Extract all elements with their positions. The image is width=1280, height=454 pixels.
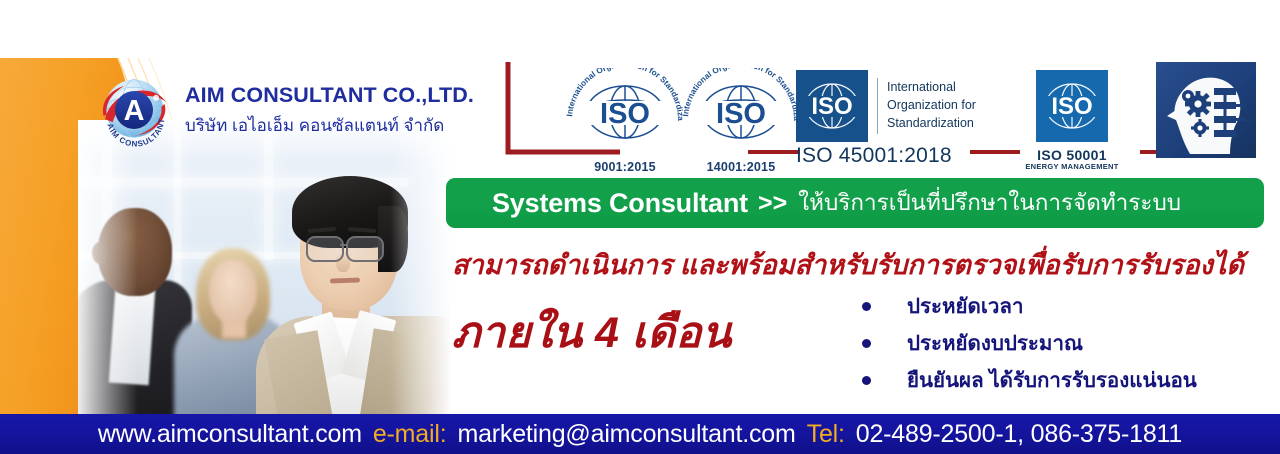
- iso-9001-caption: 9001:2015: [560, 160, 690, 174]
- iso-certification-row: ISO International Organization for Stand…: [500, 56, 1280, 174]
- svg-text:ISO: ISO: [811, 93, 852, 120]
- company-name-th: บริษัท เอไอเอ็ม คอนซัลแตนท์ จำกัด: [185, 117, 474, 136]
- systems-consultant-subtitle: ให้บริการเป็นที่ปรึกษาในการจัดทำระบบ: [798, 192, 1181, 215]
- systems-consultant-title: Systems Consultant: [492, 190, 748, 217]
- bullet-dot-icon: [862, 339, 871, 348]
- email-link[interactable]: marketing@aimconsultant.com: [457, 420, 795, 449]
- promotional-banner: A AIM CONSULTANT AIM CONSULTANT CO.,LTD.…: [0, 0, 1280, 454]
- company-name-block: AIM CONSULTANT CO.,LTD. บริษัท เอไอเอ็ม …: [185, 84, 474, 135]
- head-with-gears-icon: [1150, 58, 1262, 167]
- iso-50001-sub-caption: ENERGY MANAGEMENT: [1020, 162, 1124, 171]
- team-photo: [78, 120, 450, 416]
- tel-label: Tel:: [807, 420, 845, 449]
- list-item: ประหยัดงบประมาณ: [862, 325, 1197, 362]
- iso-45001-caption: ISO 45001:2018: [796, 144, 986, 168]
- tel-number[interactable]: 02-489-2500-1, 086-375-1811: [856, 420, 1182, 449]
- systems-consultant-banner: Systems Consultant >> ให้บริการเป็นที่ปร…: [446, 178, 1264, 228]
- iso-50001-certification: ISO ISO 50001 ENERGY MANAGEMENT: [1020, 70, 1124, 171]
- bullet-dot-icon: [862, 376, 871, 385]
- headline-duration: ภายใน 4 เดือน: [452, 312, 732, 355]
- svg-text:A: A: [124, 95, 145, 127]
- chevron-double-right-icon: >>: [758, 191, 787, 216]
- website-link[interactable]: www.aimconsultant.com: [98, 420, 362, 449]
- benefits-list: ประหยัดเวลา ประหยัดงบประมาณ ยืนยันผล ได้…: [862, 288, 1197, 399]
- email-label: e-mail:: [373, 420, 447, 449]
- contact-footer-bar: www.aimconsultant.com e-mail: marketing@…: [0, 414, 1280, 454]
- iso-45001-side-text: International Organization for Standardi…: [887, 79, 976, 132]
- headline-red: สามารถดำเนินการ และพร้อมสำหรับรับการตรวจ…: [452, 252, 1244, 279]
- bullet-dot-icon: [862, 302, 871, 311]
- list-item: ยืนยันผล ได้รับการรับรองแน่นอน: [862, 362, 1197, 399]
- iso-14001-certification: ISO International Organization for Stand…: [676, 68, 806, 174]
- company-name-en: AIM CONSULTANT CO.,LTD.: [185, 84, 474, 108]
- svg-text:ISO: ISO: [600, 98, 650, 130]
- svg-text:ISO: ISO: [716, 98, 766, 130]
- iso-50001-caption: ISO 50001: [1020, 147, 1124, 163]
- iso-45001-certification: ISO International Organization for Stand…: [796, 70, 986, 168]
- benefit-label: ประหยัดงบประมาณ: [907, 327, 1083, 360]
- aim-consultant-logo: A AIM CONSULTANT: [96, 72, 172, 153]
- iso-divider: [877, 78, 878, 134]
- iso-45001-side-line-1: International: [887, 79, 976, 97]
- benefit-label: ยืนยันผล ได้รับการรับรองแน่นอน: [907, 364, 1197, 397]
- iso-14001-caption: 14001:2015: [676, 160, 806, 174]
- list-item: ประหยัดเวลา: [862, 288, 1197, 325]
- iso-9001-certification: ISO International Organization for Stand…: [560, 68, 690, 174]
- benefit-label: ประหยัดเวลา: [907, 290, 1023, 323]
- photo-edge-fade: [78, 120, 450, 416]
- iso-45001-side-line-2: Organization for: [887, 97, 976, 115]
- iso-45001-side-line-3: Standardization: [887, 115, 976, 133]
- svg-text:ISO: ISO: [1051, 93, 1092, 120]
